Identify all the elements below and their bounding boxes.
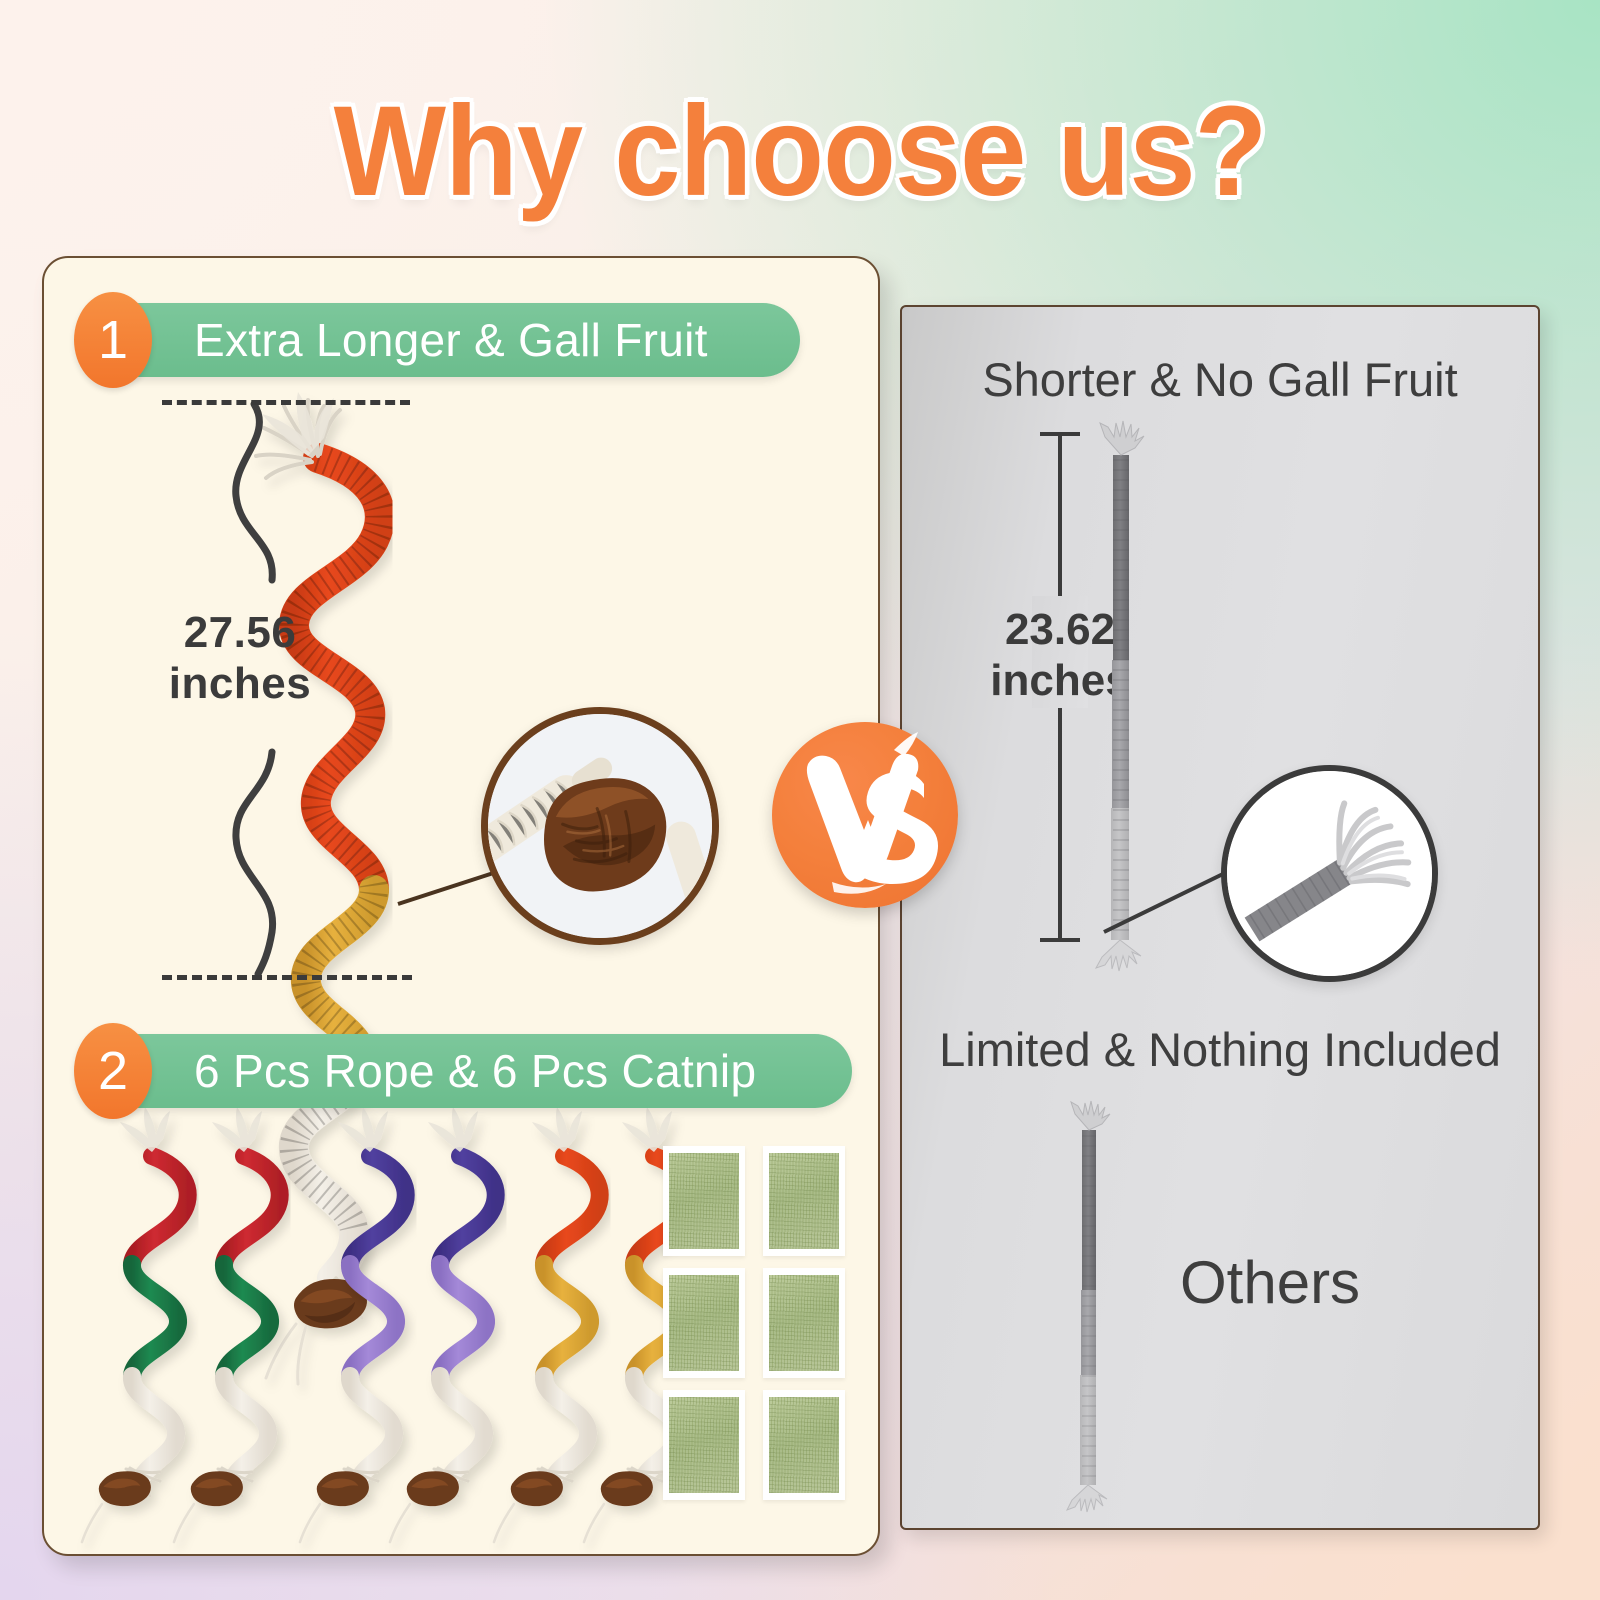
page-title: Why choose us? [56,78,1544,225]
hero-gall-fruit [266,1274,376,1384]
measure-guide-top [162,400,410,405]
others-label: Others [1180,1248,1480,1317]
rope-red-green-2 [174,1107,280,1542]
catnip-square [663,1146,745,1256]
others-heading-top: Shorter & No Gall Fruit [900,352,1540,407]
rope-orange-1 [494,1107,600,1542]
catnip-texture [669,1275,739,1371]
feature-label-1: Extra Longer & Gall Fruit [194,313,708,367]
catnip-square [663,1268,745,1378]
feature-banner-1[interactable]: 1 Extra Longer & Gall Fruit [96,303,800,377]
feature-label-2: 6 Pcs Rope & 6 Pcs Catnip [194,1044,756,1098]
dimension-cap-top [1040,432,1080,436]
rope-purple-1 [300,1107,406,1542]
catnip-texture [669,1153,739,1249]
ours-measurement-text: 27.56 inches [125,607,355,709]
dimension-cap-bottom [1040,938,1080,942]
ours-magnifier-circle [481,707,719,945]
catnip-square [663,1390,745,1500]
catnip-square [763,1268,845,1378]
catnip-grid [663,1146,845,1500]
catnip-square [763,1390,845,1500]
ours-measurement-value: 27.56 [125,607,355,658]
ours-measurement-unit: inches [125,658,355,709]
others-measurement-value: 23.62 [960,604,1160,655]
catnip-texture [769,1397,839,1493]
vs-text [807,732,938,894]
feature-banner-2[interactable]: 2 6 Pcs Rope & 6 Pcs Catnip [96,1034,852,1108]
others-comparison-card [900,305,1540,1530]
others-heading-bottom: Limited & Nothing Included [900,1022,1540,1077]
feature-number-badge: 2 [74,1023,152,1119]
rope-red-green-1 [82,1107,188,1542]
catnip-square [763,1146,845,1256]
others-measurement-unit: inches [960,655,1160,706]
vs-badge [772,722,958,908]
catnip-texture [769,1275,839,1371]
feature-number-badge: 1 [74,292,152,388]
rope-purple-2 [390,1107,496,1542]
catnip-texture [769,1153,839,1249]
measure-guide-bottom [162,975,412,980]
others-magnifier-circle [1221,765,1438,982]
others-measurement-text: 23.62 inches [960,604,1160,706]
catnip-texture [669,1397,739,1493]
